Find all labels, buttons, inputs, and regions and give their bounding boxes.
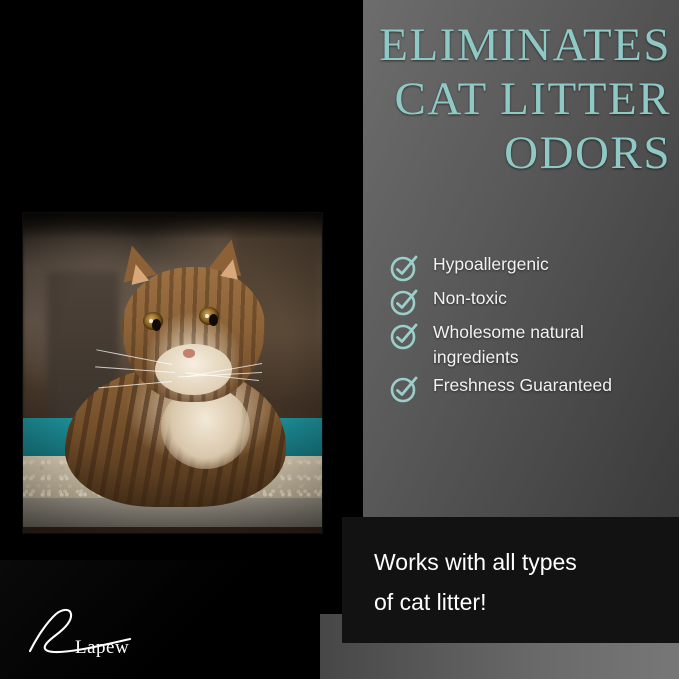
list-item: Freshness Guaranteed	[389, 373, 674, 404]
photo-vignette	[23, 213, 322, 533]
feature-label: Freshness Guaranteed	[433, 373, 612, 398]
callout-text: Works with all types of cat litter!	[374, 542, 654, 622]
brand-name: Lapew	[75, 637, 129, 659]
photo-scene	[23, 213, 322, 533]
callout-box: Works with all types of cat litter!	[342, 517, 679, 643]
product-poster: ELIMINATES CAT LITTER ODORS	[0, 0, 679, 679]
feature-label: Non-toxic	[433, 286, 507, 311]
feature-label: Hypoallergenic	[433, 252, 549, 277]
check-circle-icon	[389, 321, 419, 351]
list-item: Hypoallergenic	[389, 252, 674, 283]
brand-logo: Lapew	[26, 605, 156, 665]
list-item: Non-toxic	[389, 286, 674, 317]
check-circle-icon	[389, 287, 419, 317]
feature-label: Wholesome natural ingredients	[433, 320, 668, 370]
check-circle-icon	[389, 253, 419, 283]
list-item: Wholesome natural ingredients	[389, 320, 674, 370]
feature-list: Hypoallergenic Non-toxic Wholesome natur…	[389, 252, 674, 407]
kitten-photo	[23, 213, 322, 533]
page-title: ELIMINATES CAT LITTER ODORS	[111, 18, 671, 180]
check-circle-icon	[389, 374, 419, 404]
